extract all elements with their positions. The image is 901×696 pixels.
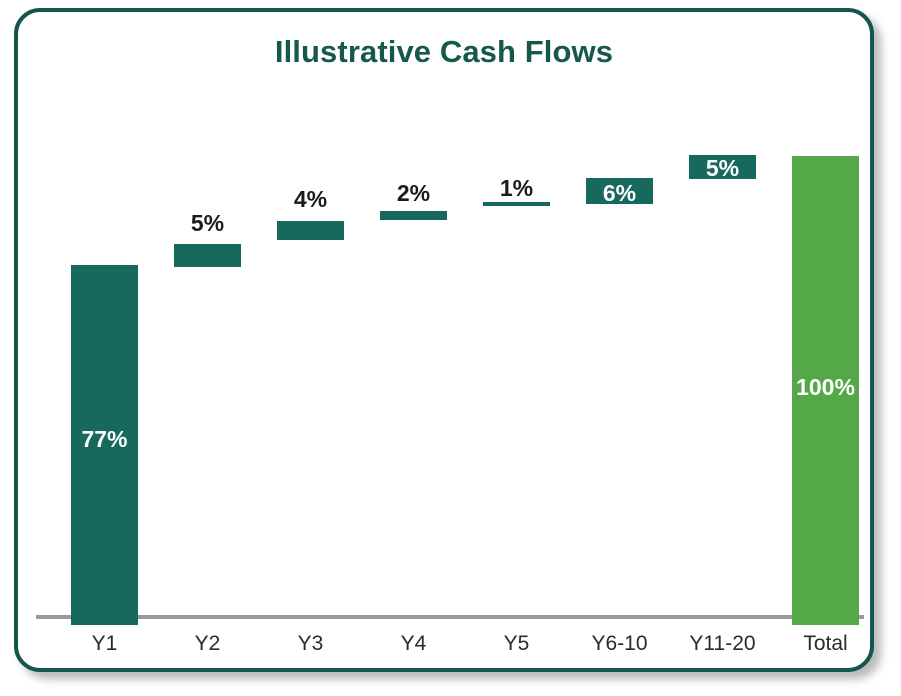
chart-card: Illustrative Cash Flows 77%Y15%Y24%Y32%Y… (14, 8, 874, 672)
bar-group-y2: 5%Y2 (157, 12, 258, 676)
bar-group-total: 100%Total (775, 12, 876, 676)
bar-value-label-total: 100% (775, 374, 876, 401)
bar-group-y4: 2%Y4 (363, 12, 464, 676)
screenshot-root: Illustrative Cash Flows 77%Y15%Y24%Y32%Y… (0, 0, 901, 696)
x-axis-label-total: Total (765, 632, 886, 656)
bar-value-label-y1: 77% (54, 426, 155, 453)
bar-group-y3: 4%Y3 (260, 12, 361, 676)
bar-y3[interactable] (277, 221, 344, 240)
bar-group-y1: 77%Y1 (54, 12, 155, 676)
bar-group-y11-20: 5%Y11-20 (672, 12, 773, 676)
bar-y4[interactable] (380, 211, 447, 220)
bar-value-label-y2: 5% (145, 210, 270, 237)
chart-plot-area: 77%Y15%Y24%Y32%Y41%Y56%Y6-105%Y11-20100%… (18, 12, 878, 676)
bar-y5[interactable] (483, 202, 550, 206)
bar-value-label-y5: 1% (454, 175, 579, 202)
bar-group-y6-10: 6%Y6-10 (569, 12, 670, 676)
bar-value-label-y11-20: 5% (672, 155, 773, 182)
bar-group-y5: 1%Y5 (466, 12, 567, 676)
bar-value-label-y6-10: 6% (569, 180, 670, 207)
bar-y2[interactable] (174, 244, 241, 267)
